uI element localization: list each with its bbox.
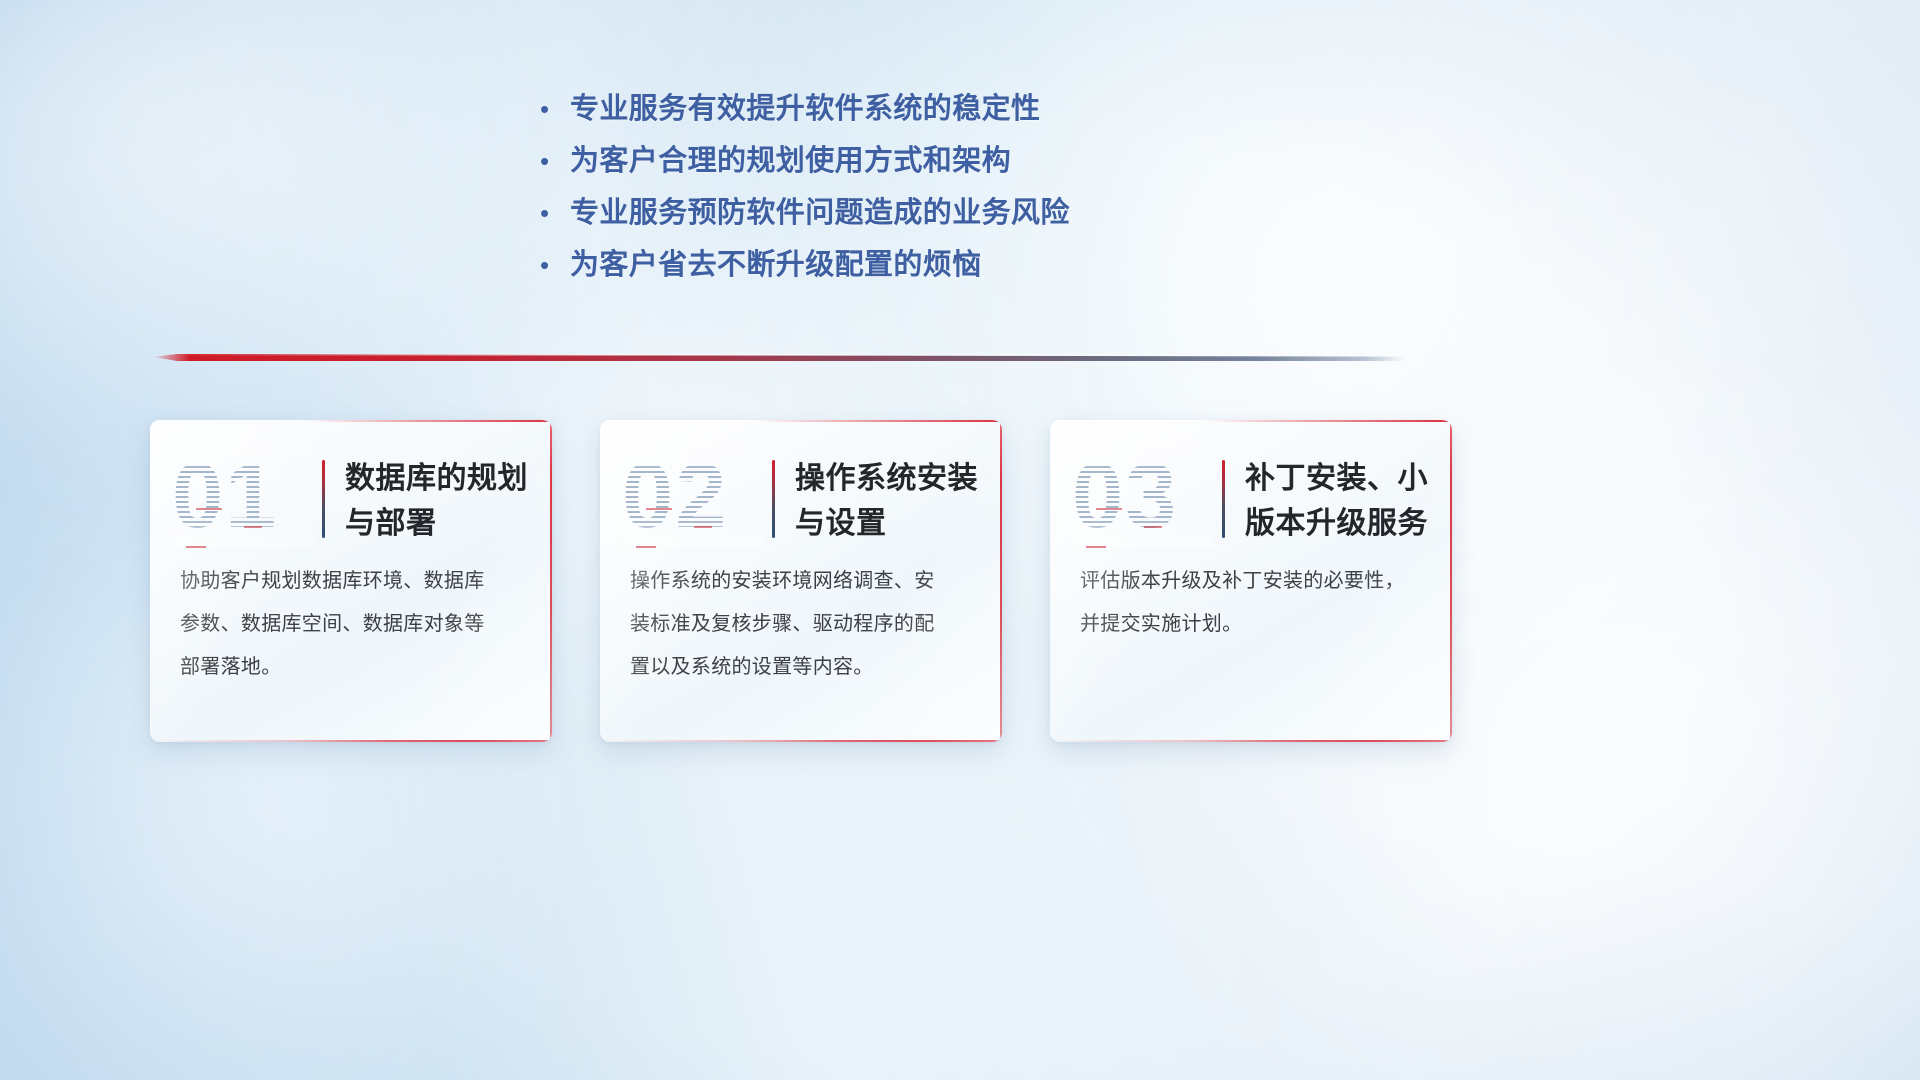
number-tick-icon	[1096, 508, 1122, 510]
card-description: 评估版本升级及补丁安装的必要性， 并提交实施计划。	[1050, 560, 1452, 646]
card-number: 03	[1072, 446, 1214, 546]
card-number-wrap: 02	[622, 450, 768, 546]
number-tick-icon	[694, 526, 712, 528]
card-description: 操作系统的安装环境网络调查、安 装标准及复核步骤、驱动程序的配 置以及系统的设置…	[600, 560, 1002, 689]
bullet-label: 专业服务预防软件问题造成的业务风险	[570, 192, 1070, 234]
card-title-bar	[772, 460, 775, 538]
card-number-wrap: 03	[1072, 450, 1218, 546]
card-title-line-2: 与设置	[795, 501, 978, 546]
bullet-label: 为客户合理的规划使用方式和架构	[570, 140, 1011, 182]
benefits-bullet-list: • 专业服务有效提升软件系统的稳定性 • 为客户合理的规划使用方式和架构 • 专…	[540, 88, 1070, 286]
card-description-line-3: 部署落地。	[180, 646, 524, 689]
list-item: • 专业服务有效提升软件系统的稳定性	[540, 88, 1070, 130]
card-title-bar	[322, 460, 325, 538]
bullet-dot-icon: •	[540, 192, 570, 234]
card-title: 数据库的规划 与部署	[345, 450, 528, 546]
number-tick-icon	[186, 546, 206, 548]
card-bottom-accent	[1050, 740, 1452, 743]
card-title-line-1: 补丁安装、小	[1245, 456, 1428, 501]
card-title-line-2: 版本升级服务	[1245, 501, 1428, 546]
list-item: • 专业服务预防软件问题造成的业务风险	[540, 192, 1070, 234]
bullet-dot-icon: •	[540, 140, 570, 182]
bullet-dot-icon: •	[540, 88, 570, 130]
service-card[interactable]: 02 操作系统安装 与设置 操作系统的安装环境网络调查、安 装标准及复核步骤、驱…	[600, 420, 1002, 742]
card-title-line-1: 操作系统安装	[795, 456, 978, 501]
card-title: 补丁安装、小 版本升级服务	[1245, 450, 1428, 546]
number-tick-icon	[196, 508, 222, 510]
number-tick-icon	[646, 508, 672, 510]
card-title-line-1: 数据库的规划	[345, 456, 528, 501]
section-divider	[152, 348, 1404, 366]
card-bottom-accent	[150, 740, 552, 743]
bullet-label: 专业服务有效提升软件系统的稳定性	[570, 88, 1040, 130]
service-card-row: 01 数据库的规划 与部署 协助客户规划数据库环境、数据库 参数、数据库空间、数…	[150, 420, 1452, 742]
number-tick-icon	[1086, 546, 1106, 548]
card-description-line-2: 参数、数据库空间、数据库对象等	[180, 603, 524, 646]
card-description-line-1: 协助客户规划数据库环境、数据库	[180, 560, 524, 603]
card-title-bar	[1222, 460, 1225, 538]
card-description: 协助客户规划数据库环境、数据库 参数、数据库空间、数据库对象等 部署落地。	[150, 560, 552, 689]
card-number-wrap: 01	[172, 450, 318, 546]
service-card[interactable]: 01 数据库的规划 与部署 协助客户规划数据库环境、数据库 参数、数据库空间、数…	[150, 420, 552, 742]
card-description-line-1: 评估版本升级及补丁安装的必要性，	[1080, 560, 1424, 603]
card-description-line-1: 操作系统的安装环境网络调查、安	[630, 560, 974, 603]
card-description-line-3: 置以及系统的设置等内容。	[630, 646, 974, 689]
list-item: • 为客户合理的规划使用方式和架构	[540, 140, 1070, 182]
card-description-line-2: 装标准及复核步骤、驱动程序的配	[630, 603, 974, 646]
list-item: • 为客户省去不断升级配置的烦恼	[540, 244, 1070, 286]
card-title-line-2: 与部署	[345, 501, 528, 546]
card-bottom-accent	[600, 740, 1002, 743]
number-tick-icon	[244, 526, 262, 528]
service-card[interactable]: 03 补丁安装、小 版本升级服务 评估版本升级及补丁安装的必要性， 并提交实施计…	[1050, 420, 1452, 742]
number-tick-icon	[636, 546, 656, 548]
bullet-dot-icon: •	[540, 244, 570, 286]
card-number: 01	[172, 446, 314, 546]
card-title: 操作系统安装 与设置	[795, 450, 978, 546]
card-number: 02	[622, 446, 764, 546]
number-tick-icon	[1144, 526, 1162, 528]
divider-shine	[152, 353, 1404, 356]
card-description-line-2: 并提交实施计划。	[1080, 603, 1424, 646]
bullet-label: 为客户省去不断升级配置的烦恼	[570, 244, 982, 286]
